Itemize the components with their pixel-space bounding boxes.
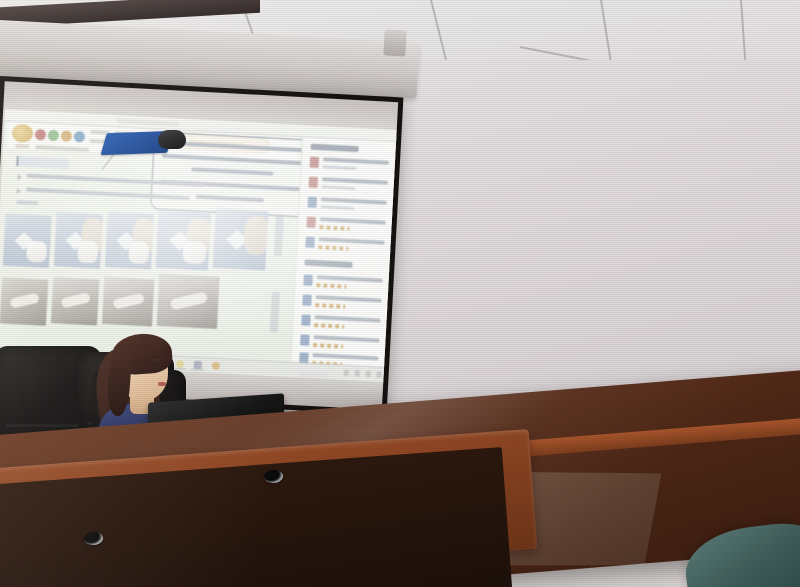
eye [152,365,159,368]
vertical-label-lower [270,292,280,332]
browser-url-bar[interactable] [117,118,179,126]
instruction-photo [213,209,268,271]
instruction-photo [156,211,211,271]
instruction-photo [51,277,99,325]
vertical-label-upper [274,216,284,256]
star-rating [316,283,346,289]
bullet-marker-icon [17,174,21,180]
system-tray[interactable] [344,370,384,378]
document-site-logo-icon[interactable] [12,124,34,143]
word-file-icon [302,294,312,305]
doc-title-text [35,145,89,152]
rail-item[interactable] [309,156,394,177]
pdf-file-icon [310,157,320,168]
word-file-icon [303,274,313,285]
instruction-photo [157,274,220,329]
star-rating [315,303,345,309]
nav-dot-icon[interactable] [48,130,60,142]
star-rating [318,245,348,251]
callout-text-line [191,167,273,175]
conference-room-scene [0,0,800,587]
rail-item[interactable] [306,216,391,237]
callout-text-line [162,154,308,166]
callout-text-line [196,195,264,203]
projector-screen-endcap [383,29,406,56]
word-file-icon [305,237,315,248]
instruction-photo [102,277,154,327]
related-documents-heading [311,144,359,153]
nav-dot-icon[interactable] [35,129,47,141]
computer-mouse[interactable] [158,130,186,149]
rail-item[interactable] [308,176,393,197]
pdf-file-icon [309,177,319,188]
rail-item[interactable] [302,293,387,314]
nav-dot-icon[interactable] [74,131,86,143]
instruction-photo [0,277,48,325]
rail-item[interactable] [303,273,388,294]
lips [158,382,166,386]
word-file-icon [300,334,310,345]
rail-item[interactable] [305,236,390,257]
star-rating [313,343,343,349]
doc-badge [15,144,29,149]
bullet-marker-icon [17,188,21,194]
related-documents-rail [289,137,398,382]
star-rating [314,323,344,329]
rail-item[interactable] [307,196,392,217]
star-rating [319,225,349,231]
people-also-viewed-heading [304,259,352,268]
pdf-file-icon [306,217,316,228]
nav-dot-icon[interactable] [61,130,73,142]
instruction-photo [54,212,103,268]
word-file-icon [307,197,317,208]
instruction-photo [105,212,154,269]
eyebrow [151,359,161,361]
section-heading-chip [16,156,68,169]
rail-item[interactable] [301,313,386,334]
instruction-photo [3,213,52,267]
word-file-icon [301,314,311,325]
caption-text [16,200,38,205]
